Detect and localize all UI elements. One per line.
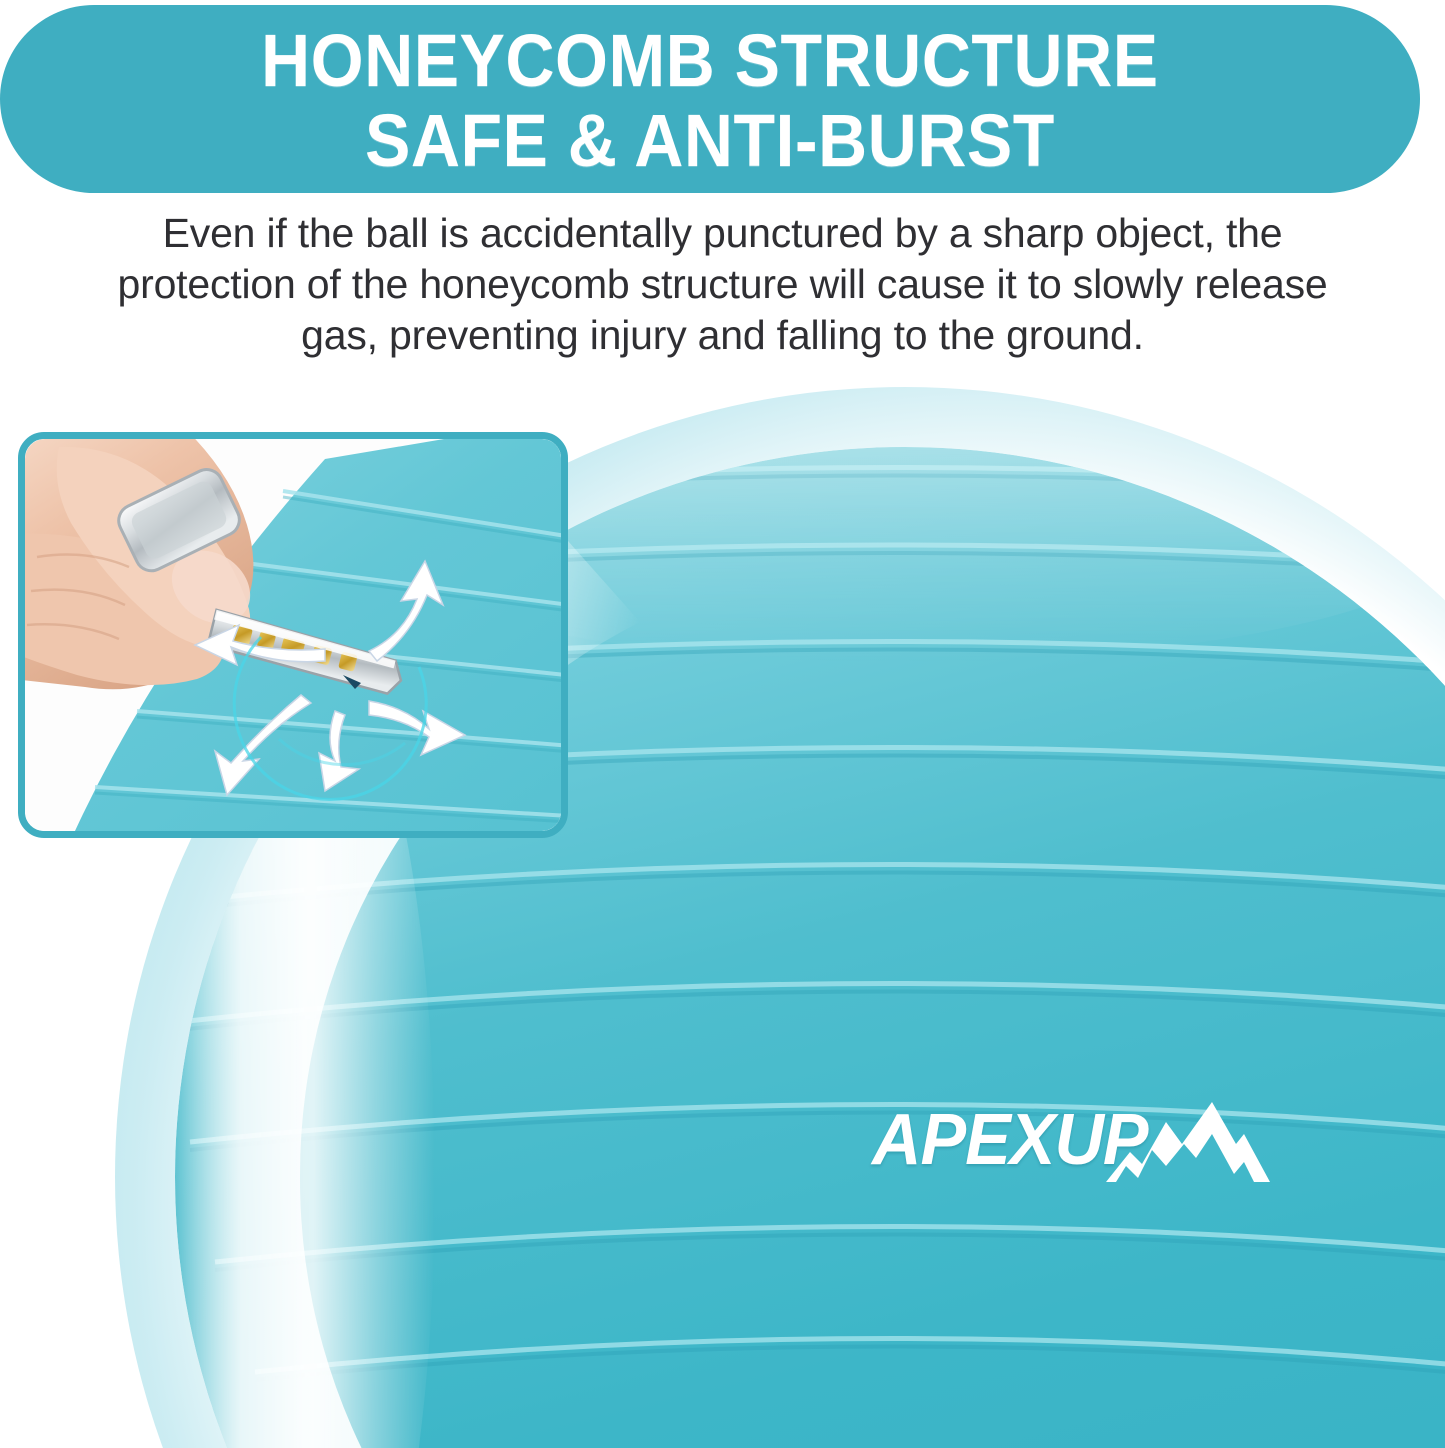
key-puncture-photo <box>25 439 563 833</box>
headline-banner: HONEYCOMB STRUCTURE SAFE & ANTI-BURST <box>0 5 1420 193</box>
puncture-demo-inset <box>18 432 568 838</box>
description-text: Even if the ball is accidentally punctur… <box>90 208 1355 361</box>
product-infographic-page: HONEYCOMB STRUCTURE SAFE & ANTI-BURST Ev… <box>0 0 1445 1448</box>
headline-line-2: SAFE & ANTI-BURST <box>365 101 1055 181</box>
headline-line-1: HONEYCOMB STRUCTURE <box>261 21 1159 101</box>
